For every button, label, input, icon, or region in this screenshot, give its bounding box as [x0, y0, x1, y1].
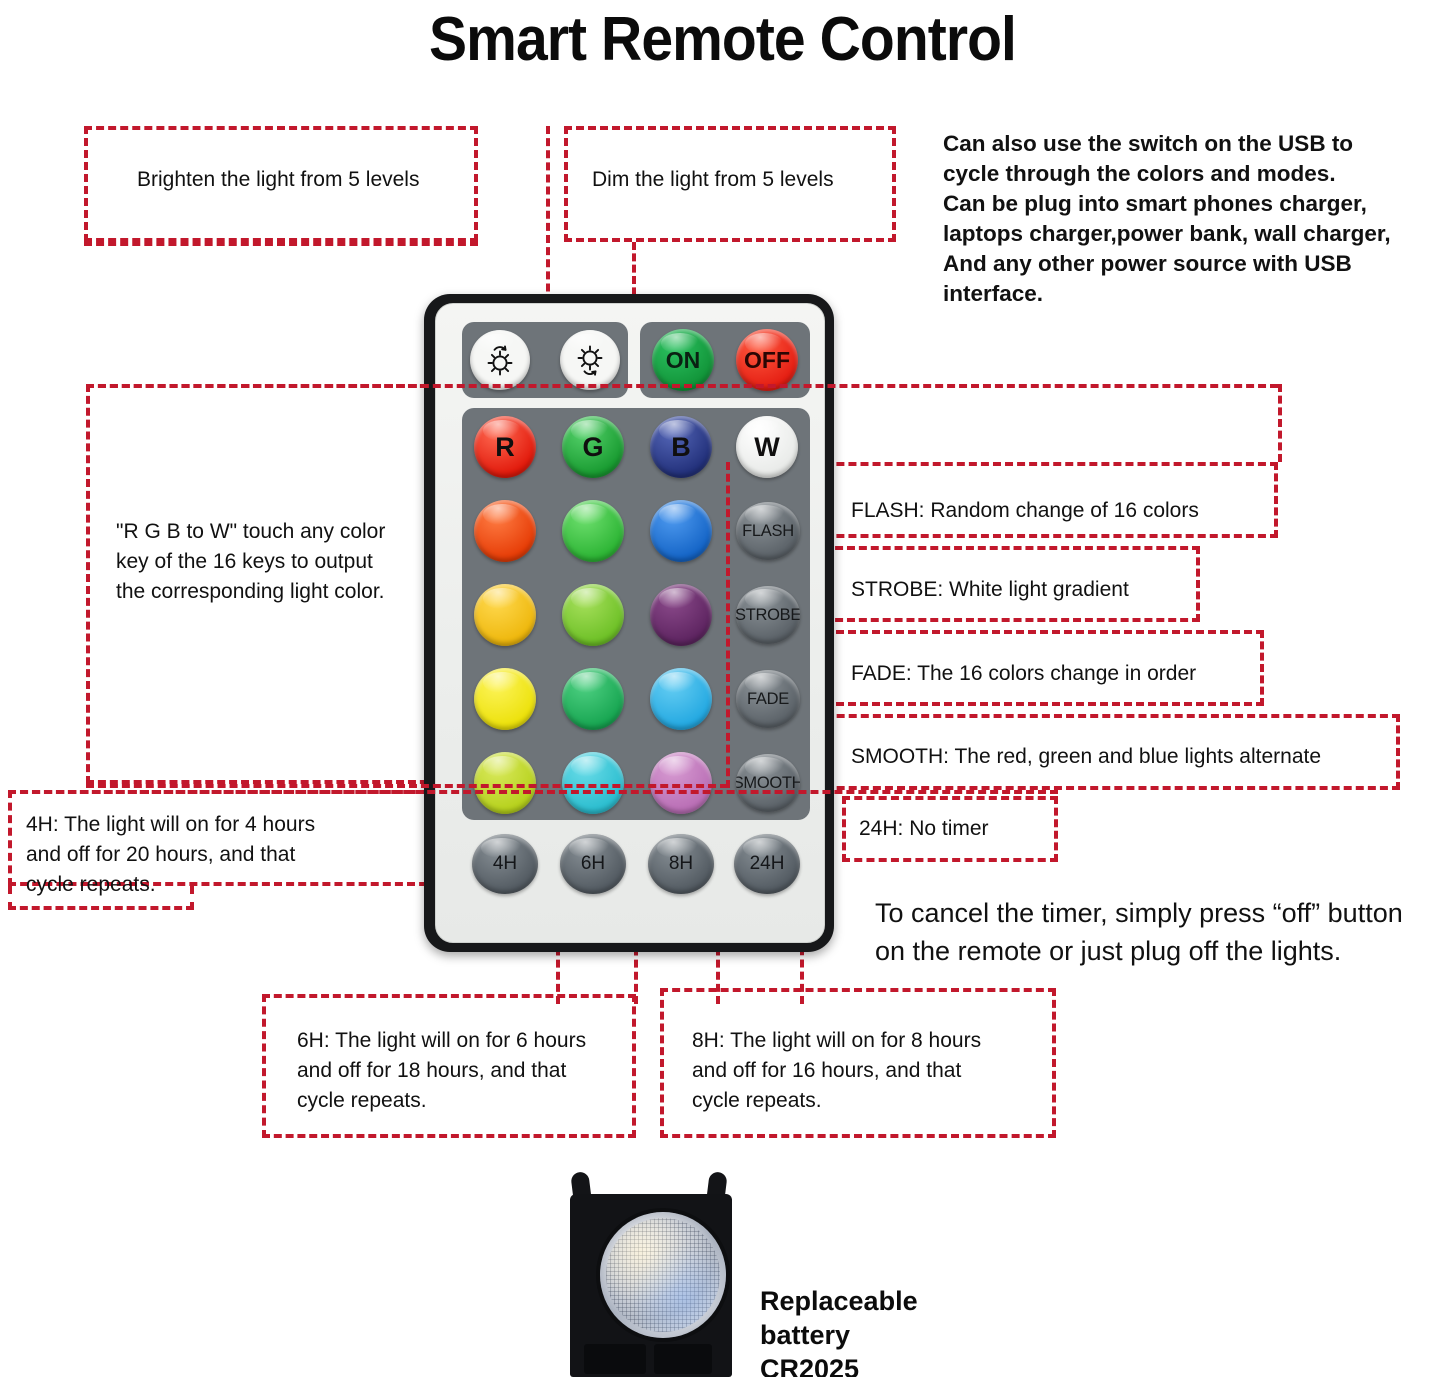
- timer-button-24h[interactable]: 24H: [734, 834, 800, 894]
- brighten-button[interactable]: [470, 330, 530, 390]
- leader-rgbw-right: [1278, 384, 1282, 462]
- annotation-cancel-timer: To cancel the timer, simply press “off” …: [875, 894, 1445, 970]
- color-swatch-r2c1[interactable]: [474, 500, 536, 562]
- battery-slot-left: [584, 1344, 646, 1374]
- mode-button-fade-label: FADE: [747, 690, 789, 709]
- color-button-g-label: G: [582, 432, 603, 463]
- battery-slot-right: [654, 1344, 712, 1374]
- remote-control-device: ON OFF R G B W: [424, 294, 834, 952]
- annotation-brighten: Brighten the light from 5 levels: [137, 165, 419, 195]
- battery-illustration: Replaceable battery CR2025: [556, 1172, 746, 1377]
- color-swatch-r3c1[interactable]: [474, 584, 536, 646]
- leader-brighten-bottom: [84, 242, 478, 246]
- dim-button[interactable]: [560, 330, 620, 390]
- annotation-timer-24h: 24H: No timer: [859, 814, 989, 844]
- annotation-flash: FLASH: Random change of 16 colors: [851, 496, 1199, 526]
- color-swatch-r4c1[interactable]: [474, 668, 536, 730]
- annotation-timer-6h: 6H: The light will on for 6 hours and of…: [297, 1026, 637, 1116]
- battery-holder: [570, 1194, 732, 1377]
- leader-timer-top: [8, 790, 1058, 794]
- power-off-button[interactable]: OFF: [736, 329, 798, 391]
- leader-rgbw-bottom: [86, 784, 728, 788]
- annotation-timer-8h: 8H: The light will on for 8 hours and of…: [692, 1026, 1032, 1116]
- annotation-dim: Dim the light from 5 levels: [592, 165, 834, 195]
- color-swatch-r4c2[interactable]: [562, 668, 624, 730]
- mode-button-strobe-label: STROBE: [736, 606, 800, 625]
- mode-button-flash-label: FLASH: [742, 522, 794, 541]
- color-swatch-r4c3[interactable]: [650, 668, 712, 730]
- timer-button-4h-label: 4H: [493, 853, 517, 875]
- color-button-w[interactable]: W: [736, 416, 798, 478]
- annotation-rgbw: "R G B to W" touch any color key of the …: [116, 517, 446, 607]
- color-button-r[interactable]: R: [474, 416, 536, 478]
- annotation-timer-4h: 4H: The light will on for 4 hours and of…: [26, 810, 426, 900]
- power-off-label: OFF: [744, 347, 790, 374]
- color-button-b-label: B: [671, 432, 691, 463]
- annotation-smooth: SMOOTH: The red, green and blue lights a…: [851, 742, 1321, 772]
- color-button-r-label: R: [495, 432, 515, 463]
- annotation-fade: FADE: The 16 colors change in order: [851, 659, 1196, 689]
- power-on-label: ON: [666, 347, 701, 374]
- color-swatch-r5c2[interactable]: [562, 752, 624, 814]
- color-button-w-label: W: [754, 432, 779, 463]
- sun-down-icon: [568, 338, 612, 382]
- remote-faceplate: ON OFF R G B W: [435, 303, 825, 943]
- color-button-b[interactable]: B: [650, 416, 712, 478]
- annotation-strobe: STROBE: White light gradient: [851, 575, 1129, 605]
- mode-button-strobe[interactable]: STROBE: [736, 586, 800, 644]
- color-button-g[interactable]: G: [562, 416, 624, 478]
- color-swatch-r3c2[interactable]: [562, 584, 624, 646]
- mode-button-smooth-label: SMOOTH: [736, 774, 800, 793]
- mode-button-fade[interactable]: FADE: [736, 670, 800, 728]
- coin-cell: [600, 1212, 726, 1338]
- battery-label: Replaceable battery CR2025: [760, 1284, 918, 1377]
- leader-mode-column-left: [726, 462, 730, 788]
- color-swatch-r5c1[interactable]: [474, 752, 536, 814]
- timer-button-8h[interactable]: 8H: [648, 834, 714, 894]
- annotation-usb: Can also use the switch on the USB to cy…: [943, 129, 1433, 309]
- timer-button-6h-label: 6H: [581, 853, 605, 875]
- infographic-canvas: Smart Remote Control Brighten the light …: [0, 0, 1445, 1377]
- color-swatch-r3c3[interactable]: [650, 584, 712, 646]
- color-swatch-r2c2[interactable]: [562, 500, 624, 562]
- page-title: Smart Remote Control: [58, 4, 1387, 75]
- timer-button-4h[interactable]: 4H: [472, 834, 538, 894]
- color-swatch-r5c3[interactable]: [650, 752, 712, 814]
- timer-button-8h-label: 8H: [669, 853, 693, 875]
- mode-button-smooth[interactable]: SMOOTH: [736, 754, 800, 812]
- power-on-button[interactable]: ON: [652, 329, 714, 391]
- timer-button-6h[interactable]: 6H: [560, 834, 626, 894]
- mode-button-flash[interactable]: FLASH: [736, 502, 800, 560]
- leader-rgbw-top: [86, 384, 1278, 388]
- color-swatch-r2c3[interactable]: [650, 500, 712, 562]
- timer-button-24h-label: 24H: [750, 853, 785, 875]
- sun-up-icon: [478, 338, 522, 382]
